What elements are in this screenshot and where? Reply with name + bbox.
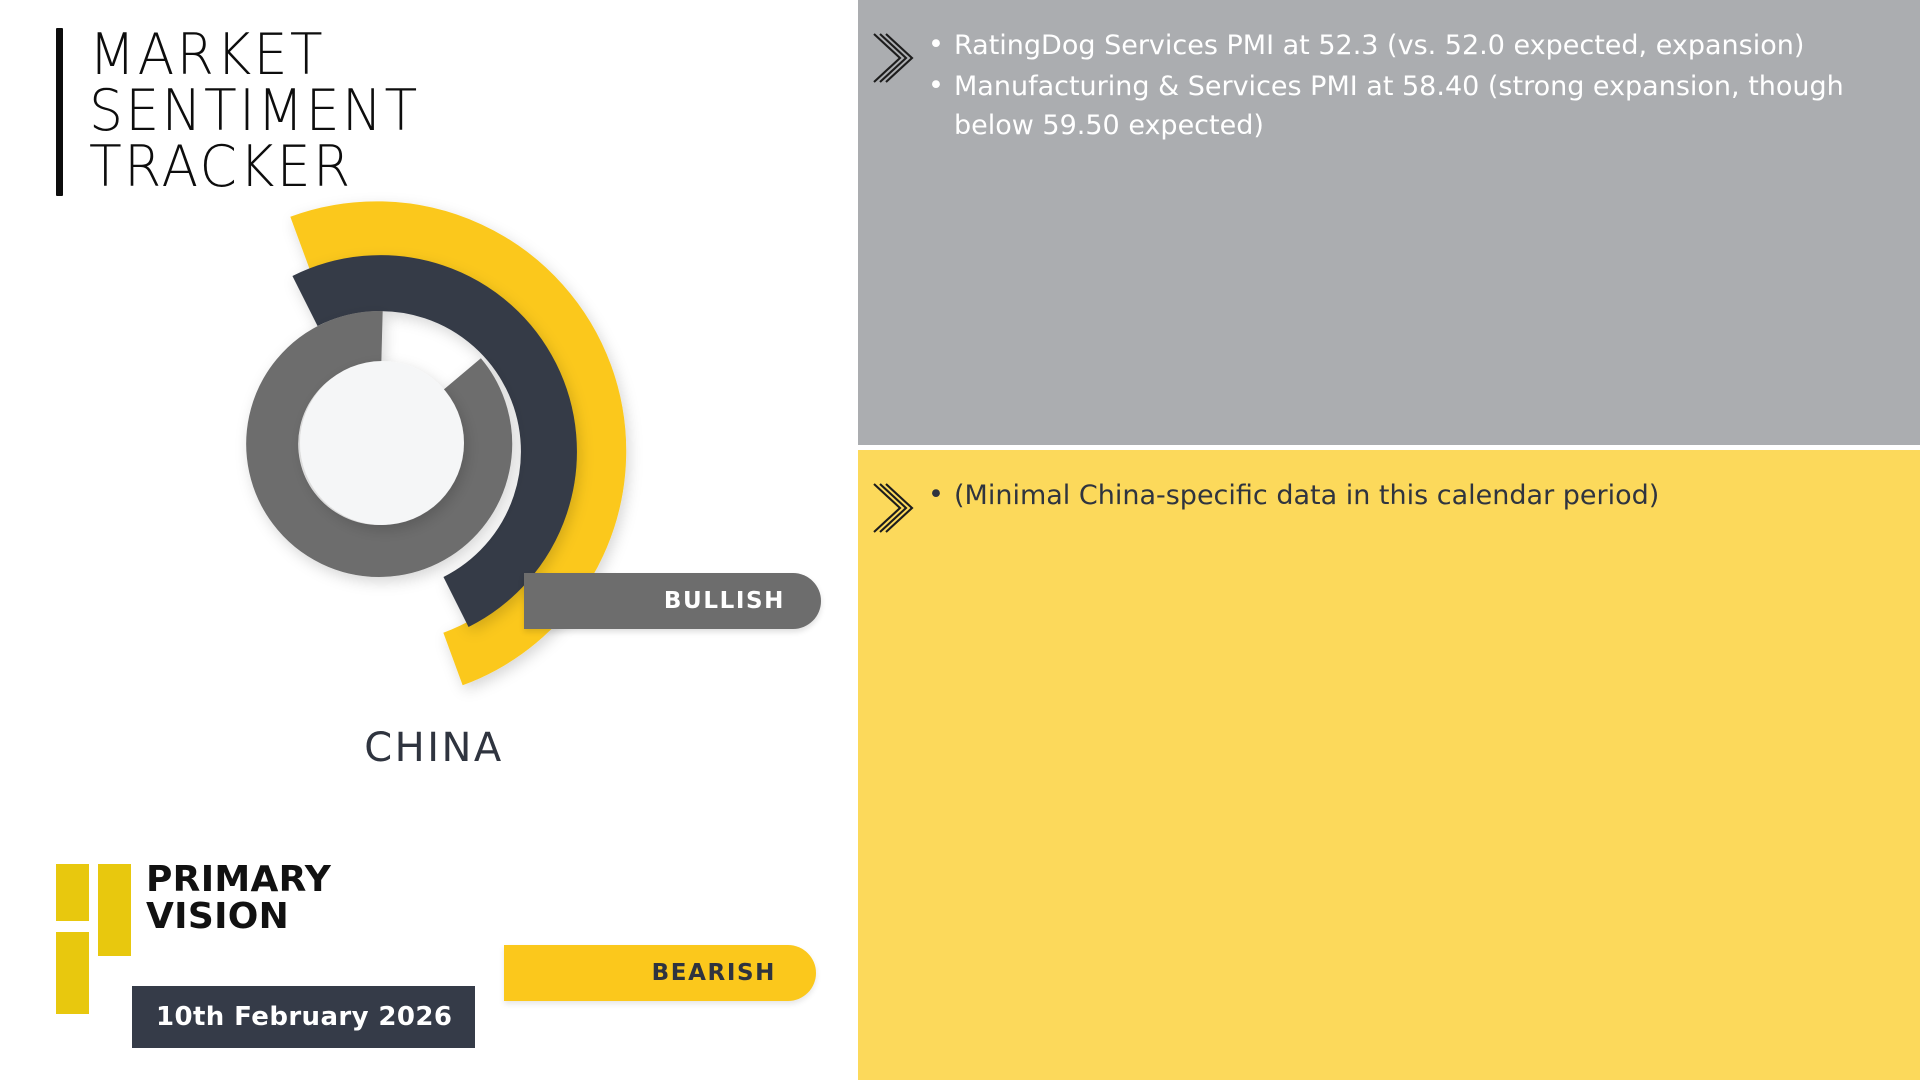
date-badge-text: 10th February 2026	[156, 1002, 452, 1032]
panel-yellow-bottom-inner: (Minimal China-specific data in this cal…	[858, 450, 1920, 538]
bearish-label-text: BEARISH	[652, 960, 776, 986]
panel-gray-top-inner: RatingDog Services PMI at 52.3 (vs. 52.0…	[858, 0, 1920, 147]
double-chevron-right-icon	[870, 480, 916, 538]
donut-center-label: CHINA	[328, 715, 540, 781]
logo-mark-icon	[56, 862, 132, 990]
donut-center-disc	[300, 361, 464, 525]
bullish-label-text: BULLISH	[664, 588, 785, 614]
donut-svg	[52, 215, 772, 795]
double-chevron-right-icon	[870, 30, 916, 88]
logo-wordmark: PRIMARY VISION	[146, 862, 331, 935]
title-text-group: MARKET SENTIMENT TRACKER	[89, 28, 441, 196]
list-item: RatingDog Services PMI at 52.3 (vs. 52.0…	[920, 26, 1890, 65]
bullish-label-pill[interactable]: BULLISH	[524, 573, 821, 629]
title-accent-bar	[56, 28, 63, 196]
panel-gray-top-bullet-list: RatingDog Services PMI at 52.3 (vs. 52.0…	[920, 24, 1890, 147]
list-item: Manufacturing & Services PMI at 58.40 (s…	[920, 67, 1890, 145]
title-line-2: SENTIMENT	[89, 84, 420, 140]
logo-block-top-left	[56, 864, 89, 921]
panel-yellow-bottom-bullet-list: (Minimal China-specific data in this cal…	[920, 474, 1890, 538]
left-panel: MARKET SENTIMENT TRACKER	[0, 0, 858, 1080]
title-line-3: TRACKER	[89, 140, 420, 196]
logo-block-right	[98, 864, 131, 956]
list-item: (Minimal China-specific data in this cal…	[920, 476, 1890, 515]
date-badge: 10th February 2026	[132, 986, 475, 1048]
panel-gray-top: RatingDog Services PMI at 52.3 (vs. 52.0…	[858, 0, 1920, 445]
logo-word-line-2: VISION	[146, 899, 331, 936]
bearish-label-pill[interactable]: BEARISH	[504, 945, 816, 1001]
panel-yellow-bottom: (Minimal China-specific data in this cal…	[858, 450, 1920, 1080]
logo-word-line-1: PRIMARY	[146, 862, 331, 899]
logo-block-bottom-left	[56, 932, 89, 1014]
title-line-1: MARKET	[89, 28, 420, 84]
page-title: MARKET SENTIMENT TRACKER	[56, 28, 441, 196]
primary-vision-logo: PRIMARY VISION	[56, 862, 476, 992]
sentiment-donut-chart: BULLISH BEARISH CHINA	[52, 215, 772, 795]
